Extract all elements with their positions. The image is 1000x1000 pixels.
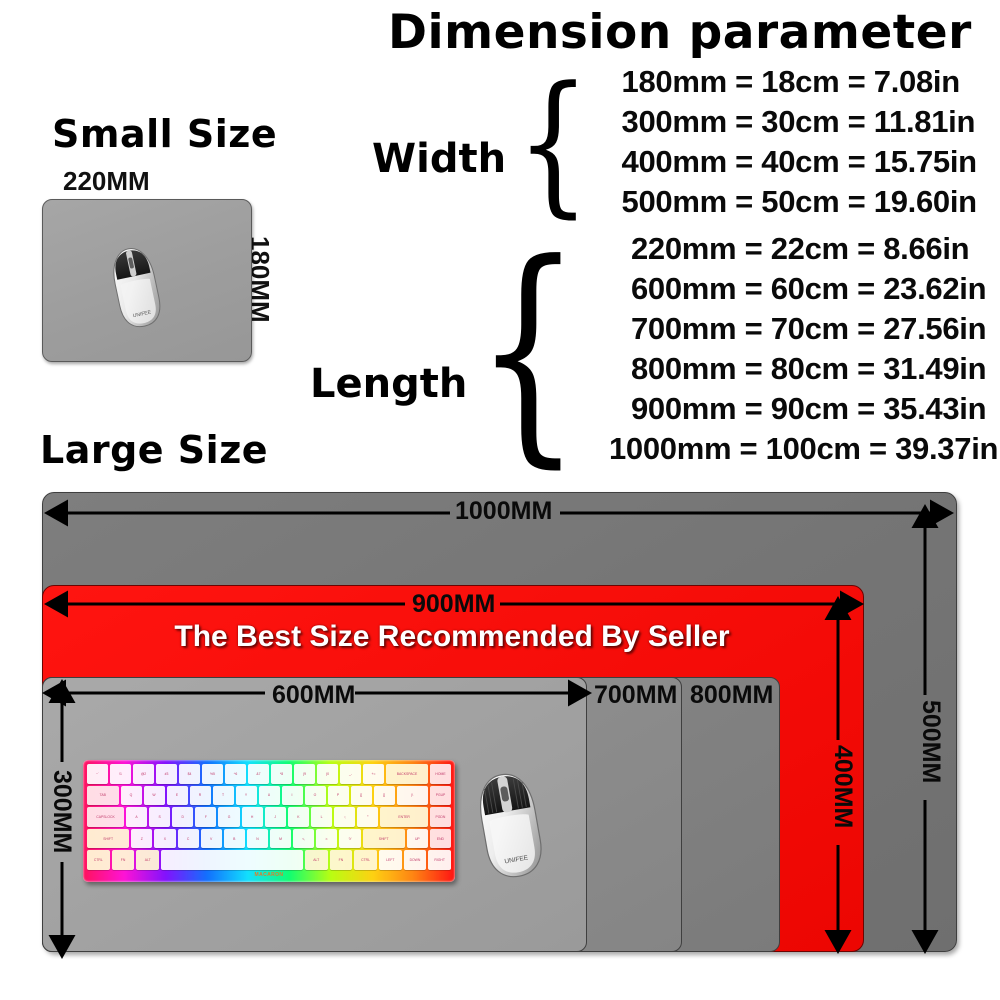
keyboard-key: BACKSPACE — [386, 764, 428, 784]
keyboard-key: U — [259, 786, 280, 806]
keyboard-key: S — [149, 807, 170, 827]
label-300mm: 300MM — [47, 770, 76, 853]
keyboard-key: <, — [293, 829, 314, 849]
keyboard-key: PGDN — [430, 807, 451, 827]
keyboard-key: FN — [330, 850, 353, 870]
keyboard-key: UP — [407, 829, 428, 849]
keyboard-key: _- — [340, 764, 361, 784]
keyboard-key: $4 — [179, 764, 200, 784]
keyboard-key: LEFT — [379, 850, 402, 870]
keyboard-key: T — [213, 786, 234, 806]
keyboard-key: CTRL — [87, 850, 110, 870]
keyboard-key: ALT — [136, 850, 159, 870]
keyboard-key: !1 — [110, 764, 131, 784]
keyboard-row: TABQWERTYUIOP{[}]|\PGUP — [87, 786, 451, 806]
keyboard-row: CTRLFNALTALTFNCTRLLEFTDOWNRIGHT — [87, 850, 451, 870]
keyboard-key: H — [242, 807, 263, 827]
width-row: 300mm = 30cm = 11.81in — [622, 106, 977, 137]
keyboard-keys: ~`!1@2#3$4%5^6&7*8(9)0_-+=BACKSPACEHOMET… — [87, 764, 451, 878]
width-row: 180mm = 18cm = 7.08in — [622, 66, 977, 97]
keyboard-key: )0 — [317, 764, 338, 784]
keyboard-key: @2 — [133, 764, 154, 784]
keyboard-illustration: ~`!1@2#3$4%5^6&7*8(9)0_-+=BACKSPACEHOMET… — [83, 760, 455, 882]
keyboard-key: RIGHT — [428, 850, 451, 870]
keyboard-key: Q — [121, 786, 142, 806]
large-size-title: Large Size — [40, 428, 268, 472]
keyboard-key: ?/ — [339, 829, 360, 849]
length-group: Length { 220mm = 22cm = 8.66in 600mm = 6… — [310, 232, 998, 464]
keyboard-key: V — [201, 829, 222, 849]
width-brace: { — [516, 67, 590, 220]
keyboard-key: A — [126, 807, 147, 827]
length-row: 600mm = 60cm = 23.62in — [631, 273, 998, 304]
keyboard-key: R — [190, 786, 211, 806]
keyboard-key: ENTER — [380, 807, 428, 827]
keyboard-key: PGUP — [430, 786, 451, 806]
keyboard-key: FN — [112, 850, 135, 870]
length-rows: 220mm = 22cm = 8.66in 600mm = 60cm = 23.… — [631, 233, 998, 464]
label-1000mm: 1000MM — [455, 497, 552, 526]
keyboard-key: {[ — [351, 786, 372, 806]
length-row: 700mm = 70cm = 27.56in — [631, 313, 998, 344]
keyboard-key: %5 — [202, 764, 223, 784]
keyboard-key: K — [288, 807, 309, 827]
keyboard-key: G — [218, 807, 239, 827]
keyboard-key: F — [195, 807, 216, 827]
keyboard-key: END — [430, 829, 451, 849]
label-500mm: 500MM — [916, 700, 945, 783]
keyboard-key: Y — [236, 786, 257, 806]
label-600mm: 600MM — [272, 681, 355, 710]
keyboard-key: HOME — [430, 764, 451, 784]
keyboard-key: TAB — [87, 786, 119, 806]
length-row: 220mm = 22cm = 8.66in — [631, 233, 998, 264]
length-brace: { — [475, 232, 581, 469]
keyboard-key: ^6 — [225, 764, 246, 784]
keyboard-key: |\ — [397, 786, 429, 806]
small-size-title: Small Size — [52, 112, 277, 156]
keyboard-key: &7 — [248, 764, 269, 784]
keyboard-key: N — [247, 829, 268, 849]
keyboard-key: W — [144, 786, 165, 806]
keyboard-key: C — [178, 829, 199, 849]
keyboard-key: Z — [131, 829, 152, 849]
keyboard-key: J — [265, 807, 286, 827]
length-row: 800mm = 80cm = 31.49in — [631, 353, 998, 384]
keyboard-key: I — [282, 786, 303, 806]
label-900mm: 900MM — [412, 590, 495, 619]
keyboard-key: P — [328, 786, 349, 806]
label-700mm: 700MM — [594, 681, 677, 710]
keyboard-key: M — [270, 829, 291, 849]
keyboard-key: D — [172, 807, 193, 827]
keyboard-key: DOWN — [404, 850, 427, 870]
keyboard-key: SHIFT — [363, 829, 405, 849]
width-row: 400mm = 40cm = 15.75in — [622, 146, 977, 177]
mouse-illustration-small: UNIFEE — [105, 240, 167, 332]
keyboard-key: "' — [357, 807, 378, 827]
keyboard-key: }] — [374, 786, 395, 806]
keyboard-row: ~`!1@2#3$4%5^6&7*8(9)0_-+=BACKSPACEHOME — [87, 764, 451, 784]
keyboard-key: ~` — [87, 764, 108, 784]
keyboard-key: ALT — [305, 850, 328, 870]
keyboard-key: O — [305, 786, 326, 806]
small-pad-width-label: 220MM — [63, 166, 150, 197]
label-400mm: 400MM — [828, 745, 857, 828]
keyboard-row: CAPSLOCKASDFGHJKL:;"'ENTERPGDN — [87, 807, 451, 827]
width-rows: 180mm = 18cm = 7.08in 300mm = 30cm = 11.… — [622, 66, 977, 217]
keyboard-key: #3 — [156, 764, 177, 784]
keyboard-key: CAPSLOCK — [87, 807, 124, 827]
width-group-label: Width — [372, 136, 506, 182]
mouse-illustration-large: UNIFEE — [470, 765, 550, 883]
keyboard-row: SHIFTZXCVBNM<,>.?/SHIFTUPEND — [87, 829, 451, 849]
width-group: Width { 180mm = 18cm = 7.08in 300mm = 30… — [372, 66, 977, 217]
length-group-label: Length — [310, 361, 467, 407]
keyboard-key: CTRL — [354, 850, 377, 870]
page-title: Dimension parameter — [388, 5, 972, 60]
keyboard-key: (9 — [294, 764, 315, 784]
keyboard-key: >. — [316, 829, 337, 849]
recommendation-banner-text: The Best Size Recommended By Seller — [42, 620, 862, 654]
length-row: 900mm = 90cm = 35.43in — [631, 393, 998, 424]
keyboard-key: B — [224, 829, 245, 849]
keyboard-key: X — [154, 829, 175, 849]
keyboard-key: :; — [334, 807, 355, 827]
keyboard-key — [161, 850, 303, 870]
width-row: 500mm = 50cm = 19.60in — [622, 186, 977, 217]
keyboard-key: SHIFT — [87, 829, 129, 849]
keyboard-key: *8 — [271, 764, 292, 784]
keyboard-key: L — [311, 807, 332, 827]
length-row: 1000mm = 100cm = 39.37in — [609, 433, 998, 464]
keyboard-key: += — [363, 764, 384, 784]
keyboard-key: E — [167, 786, 188, 806]
label-800mm: 800MM — [690, 681, 773, 710]
